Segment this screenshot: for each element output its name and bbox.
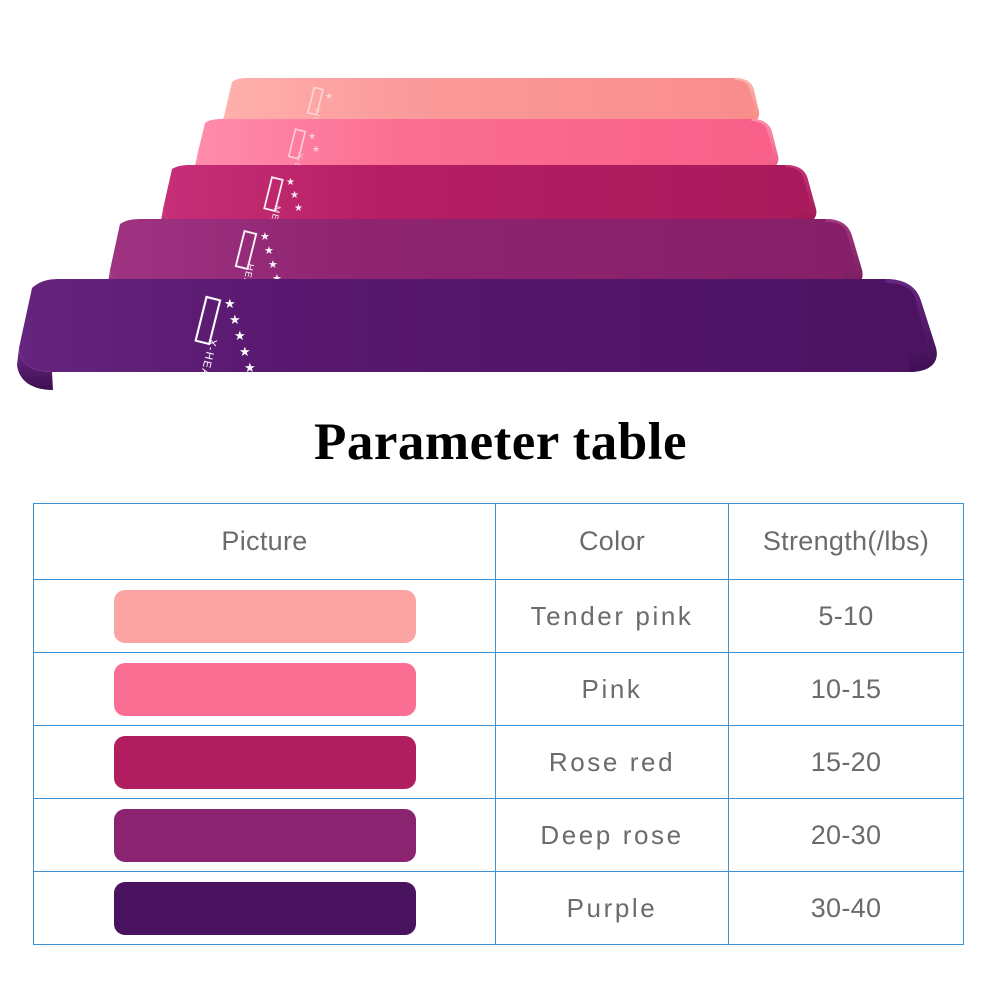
- svg-text:★: ★: [325, 92, 333, 102]
- svg-text:★: ★: [312, 145, 320, 155]
- cell-color: Pink: [496, 653, 729, 726]
- svg-text:★: ★: [294, 203, 303, 214]
- band-purple: X-HEAVY ★ ★ ★ ★ ★: [17, 279, 937, 394]
- cell-picture: [34, 726, 496, 799]
- header-strength: Strength(/lbs): [729, 504, 964, 580]
- cell-picture: [34, 653, 496, 726]
- svg-text:★: ★: [268, 258, 278, 271]
- cell-picture: [34, 872, 496, 945]
- svg-text:★: ★: [224, 297, 236, 312]
- header-picture: Picture: [34, 504, 496, 580]
- cell-strength: 5-10: [729, 580, 964, 653]
- svg-text:★: ★: [286, 177, 295, 188]
- svg-text:★: ★: [290, 190, 299, 201]
- parameter-table: Picture Color Strength(/lbs) Tender pink…: [33, 503, 964, 945]
- table-row: Rose red 15-20: [34, 726, 964, 799]
- table-row: Deep rose 20-30: [34, 799, 964, 872]
- table-header-row: Picture Color Strength(/lbs): [34, 504, 964, 580]
- svg-text:★: ★: [234, 329, 246, 344]
- svg-text:★: ★: [264, 244, 274, 257]
- color-swatch: [114, 663, 416, 716]
- cell-strength: 15-20: [729, 726, 964, 799]
- table-row: Pink 10-15: [34, 653, 964, 726]
- svg-text:★: ★: [260, 230, 270, 243]
- table-row: Tender pink 5-10: [34, 580, 964, 653]
- svg-text:★: ★: [244, 361, 256, 376]
- color-swatch: [114, 882, 416, 935]
- cell-picture: [34, 799, 496, 872]
- color-swatch: [114, 736, 416, 789]
- cell-strength: 20-30: [729, 799, 964, 872]
- cell-strength: 30-40: [729, 872, 964, 945]
- cell-color: Rose red: [496, 726, 729, 799]
- table-row: Purple 30-40: [34, 872, 964, 945]
- cell-color: Purple: [496, 872, 729, 945]
- svg-text:★: ★: [239, 345, 251, 360]
- color-swatch: [114, 590, 416, 643]
- header-color: Color: [496, 504, 729, 580]
- svg-text:★: ★: [229, 313, 241, 328]
- page-title: Parameter table: [0, 414, 1001, 471]
- color-swatch: [114, 809, 416, 862]
- cell-color: Deep rose: [496, 799, 729, 872]
- svg-text:★: ★: [308, 132, 316, 142]
- cell-picture: [34, 580, 496, 653]
- cell-color: Tender pink: [496, 580, 729, 653]
- cell-strength: 10-15: [729, 653, 964, 726]
- product-photo: LIGHT ★ X-LIGHT ★ ★ MEDIUM ★: [0, 0, 1001, 400]
